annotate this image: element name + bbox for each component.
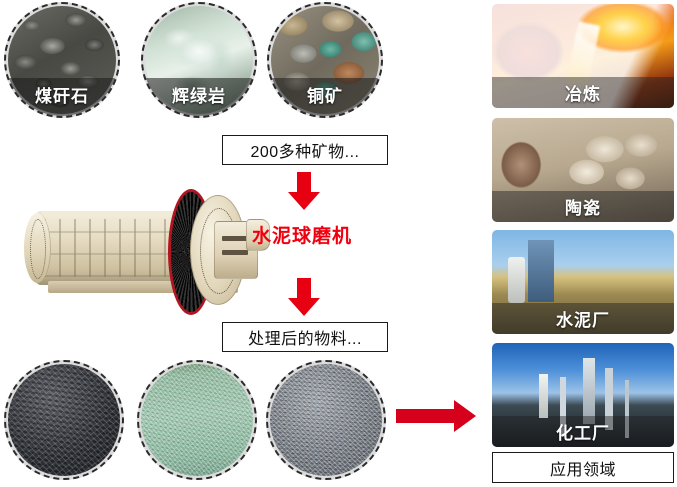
application-panel-smelting[interactable]: 冶炼	[492, 4, 674, 108]
product-photo-green-granules	[141, 364, 253, 476]
machine-name-label: 水泥球磨机	[252, 221, 352, 248]
application-panel-cement-plant[interactable]: 水泥厂	[492, 230, 674, 334]
application-label-4: 化工厂	[492, 416, 674, 447]
raw-material-circle-3[interactable]: 铜矿	[267, 2, 383, 118]
input-material-box[interactable]: 200多种矿物...	[222, 135, 388, 165]
arrow-down-icon-2	[288, 278, 320, 316]
application-panel-ceramics[interactable]: 陶瓷	[492, 118, 674, 222]
application-fields-box[interactable]: 应用领域	[492, 452, 674, 483]
application-label-2: 陶瓷	[492, 191, 674, 222]
raw-material-label-2: 辉绿岩	[143, 78, 255, 116]
application-label-1: 冶炼	[492, 77, 674, 108]
raw-material-label-3: 铜矿	[269, 78, 381, 116]
ball-mill-illustration	[18, 165, 270, 323]
product-circle-2[interactable]	[137, 360, 257, 480]
application-label-3: 水泥厂	[492, 303, 674, 334]
arrow-down-icon-1	[288, 172, 320, 210]
raw-material-circle-1[interactable]: 煤矸石	[4, 2, 120, 118]
raw-material-label-1: 煤矸石	[6, 78, 118, 116]
product-photo-gray-granules	[270, 364, 382, 476]
arrow-right-icon	[396, 400, 480, 432]
product-photo-dark-granules	[8, 364, 120, 476]
application-panel-chemical-plant[interactable]: 化工厂	[492, 343, 674, 447]
product-circle-3[interactable]	[266, 360, 386, 480]
raw-material-circle-2[interactable]: 辉绿岩	[141, 2, 257, 118]
product-circle-1[interactable]	[4, 360, 124, 480]
infographic-canvas: 煤矸石 辉绿岩 铜矿 200多种矿物... 水泥球磨机 处理后的物料...	[0, 0, 677, 487]
output-material-box[interactable]: 处理后的物料...	[222, 322, 388, 352]
